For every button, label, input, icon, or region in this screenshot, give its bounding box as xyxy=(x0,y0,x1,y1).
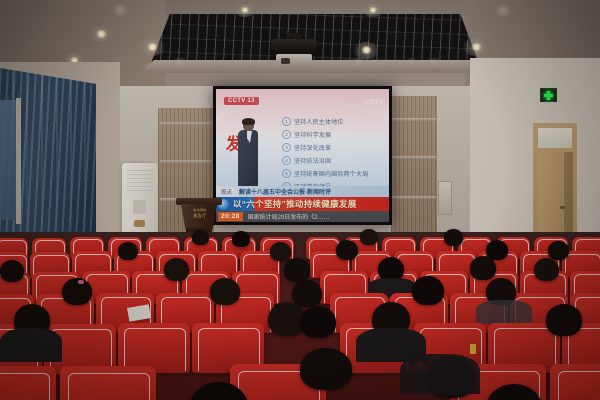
commentator-hair xyxy=(242,118,255,125)
audience-head xyxy=(232,231,250,247)
bullet-text: 坚持统筹国内国际两个大局 xyxy=(294,169,368,178)
audience-head xyxy=(548,241,569,260)
downlight-icon xyxy=(369,7,377,13)
bullet-number: 3 xyxy=(282,143,291,152)
bullet-text: 坚持依法治国 xyxy=(294,156,331,165)
downlight-icon xyxy=(361,46,372,54)
window-frame xyxy=(16,98,21,224)
cctv-channel-logo: CCTV 13 xyxy=(224,97,259,105)
wall-vent xyxy=(438,181,452,215)
audience-head xyxy=(470,256,496,280)
downlight-ring xyxy=(424,58,444,67)
broadcast-clock: 20:28 xyxy=(218,212,243,221)
audience-head xyxy=(300,348,352,390)
seat[interactable] xyxy=(550,364,600,400)
audience-head xyxy=(118,242,138,260)
door-handle[interactable] xyxy=(560,206,565,209)
ac-control-panel[interactable] xyxy=(133,200,146,214)
audience-head xyxy=(444,229,463,246)
cctv-watermark: CCTV xyxy=(365,100,383,106)
bullet-text: 坚持人民主体地位 xyxy=(294,117,344,126)
podium-top xyxy=(176,198,222,205)
downlight-ring xyxy=(492,4,514,17)
downlight-icon xyxy=(96,30,107,38)
bullet-number: 5 xyxy=(282,169,291,178)
bullet-number: 1 xyxy=(282,117,291,126)
hair-clip xyxy=(78,280,84,284)
audience-head xyxy=(300,306,336,338)
ac-grille-icon xyxy=(127,170,153,194)
audience-shoulders xyxy=(476,300,532,324)
lanyard-tag xyxy=(470,344,476,354)
broadcast-subheadline-bar: 观点 解读十八届五中全会公报·新闻时评 xyxy=(216,186,389,197)
broadcast-headline-bar: 以“六个坚持”推动持续健康发展 xyxy=(216,197,389,211)
audience-head xyxy=(192,230,209,245)
downlight-icon xyxy=(147,43,158,51)
ac-brand-badge xyxy=(134,220,145,227)
broadcast-subheadline: 解读十八届五中全会公报·新闻时评 xyxy=(239,187,331,196)
broadcast-ticker-bar: 20:28 国家统计局29日发布的《2…… xyxy=(216,211,389,222)
audience-head xyxy=(284,258,310,282)
emergency-exit-sign xyxy=(540,88,557,102)
broadcast-tag: 观点 xyxy=(218,188,235,196)
ceiling-speaker xyxy=(140,62,156,69)
audience-head xyxy=(336,240,358,260)
broadcast-ticker-text: 国家统计局29日发布的《2…… xyxy=(248,212,330,221)
seat[interactable] xyxy=(60,366,156,400)
audience-head xyxy=(534,258,559,281)
audience-head xyxy=(270,242,291,261)
broadcast-lower-third: 观点 解读十八届五中全会公报·新闻时评 以“六个坚持”推动持续健康发展 20:2… xyxy=(216,186,389,222)
audience-head xyxy=(62,278,92,305)
downlight-ring xyxy=(170,58,190,68)
audience-head xyxy=(210,278,240,305)
bullet-number: 4 xyxy=(282,156,291,165)
bullet-text: 坚持深化改革 xyxy=(294,143,331,152)
podium-inscription-line1: 中共党校 xyxy=(193,208,206,212)
audience-shoulders xyxy=(0,328,62,362)
bullet-item: 3 坚持深化改革 xyxy=(282,143,386,152)
downlight-ring xyxy=(348,58,368,67)
audience-shoulders xyxy=(400,354,480,394)
news-commentator xyxy=(238,119,258,193)
seat[interactable] xyxy=(0,366,56,400)
audience-head xyxy=(360,229,378,245)
bullet-item: 5 坚持统筹国内国际两个大局 xyxy=(282,169,386,178)
audience-head xyxy=(412,276,444,305)
bullet-number: 2 xyxy=(282,130,291,139)
auditorium-photo: CCTV 13 CCTV 发展 1 坚持人民主体地位 2 坚持科学发展 3 坚持… xyxy=(0,0,600,400)
bullet-item: 1 坚持人民主体地位 xyxy=(282,117,386,126)
seating-area xyxy=(0,232,600,400)
bullet-item: 4 坚持依法治国 xyxy=(282,156,386,165)
audience-head xyxy=(292,280,322,307)
projector-lens-icon xyxy=(281,58,290,64)
podium-inscription: 中共党校 报告厅 xyxy=(190,209,210,218)
door-transom-window xyxy=(538,128,572,148)
audience-head xyxy=(164,258,189,281)
bullet-item: 2 坚持科学发展 xyxy=(282,130,386,139)
audience-head xyxy=(546,304,582,336)
downlight-icon xyxy=(241,7,249,13)
projection-screen: CCTV 13 CCTV 发展 1 坚持人民主体地位 2 坚持科学发展 3 坚持… xyxy=(216,89,389,222)
broadcast-headline: 以“六个坚持”推动持续健康发展 xyxy=(233,198,357,210)
audience-head xyxy=(0,260,24,282)
downlight-ring xyxy=(110,4,130,16)
downlight-icon xyxy=(471,43,482,51)
ceiling-smoke-detector xyxy=(404,58,418,66)
broadcast-bullet-list: 1 坚持人民主体地位 2 坚持科学发展 3 坚持深化改革 4 坚持依法治国 5 … xyxy=(282,117,386,196)
bullet-text: 坚持科学发展 xyxy=(294,130,331,139)
podium-inscription-line2: 报告厅 xyxy=(193,213,207,219)
green-cross-icon xyxy=(544,91,553,100)
